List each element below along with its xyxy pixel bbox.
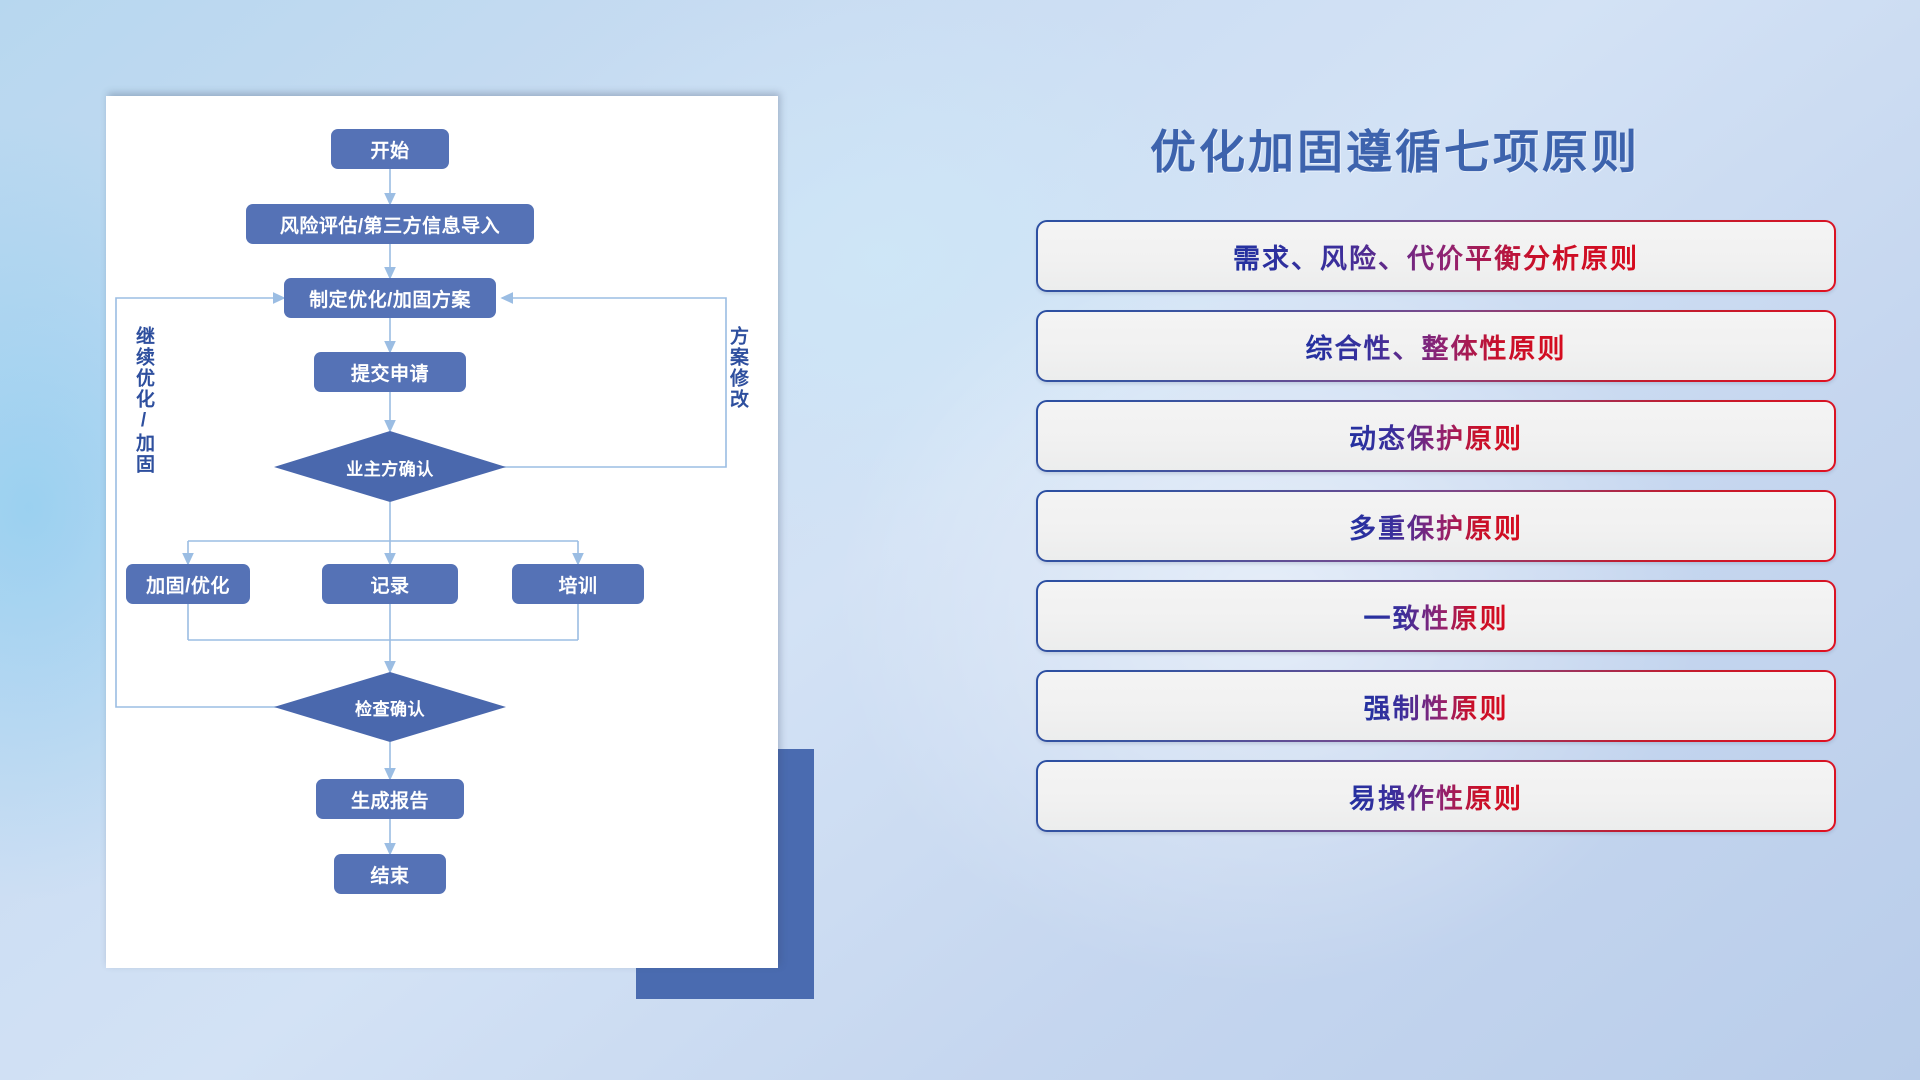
principle-card-inner: 多重保护原则 [1038, 492, 1834, 560]
principle-label: 综合性、整体性原则 [1306, 327, 1567, 366]
principle-label: 强制性原则 [1364, 687, 1509, 726]
principle-card-5[interactable]: 一致性原则 [1036, 580, 1836, 652]
node-start[interactable]: 开始 [331, 129, 449, 169]
node-training[interactable]: 培训 [512, 564, 644, 604]
label-final-check: 检查确认 [274, 692, 506, 722]
node-make-plan[interactable]: 制定优化/加固方案 [284, 278, 496, 318]
principle-card-4[interactable]: 多重保护原则 [1036, 490, 1836, 562]
principle-label: 需求、风险、代价平衡分析原则 [1233, 237, 1639, 276]
principle-card-inner: 强制性原则 [1038, 672, 1834, 740]
edge-label-continue-optimize: 继续优化/加固 [130, 326, 157, 475]
principle-label: 易操作性原则 [1349, 777, 1523, 816]
principle-label: 动态保护原则 [1349, 417, 1523, 456]
edge-label-plan-revision: 方案修改 [724, 326, 751, 410]
flowchart-card: 开始 风险评估/第三方信息导入 制定优化/加固方案 提交申请 业主方确认 加固/… [106, 96, 778, 968]
navy-accent-horizontal [636, 963, 814, 999]
principle-card-inner: 需求、风险、代价平衡分析原则 [1038, 222, 1834, 290]
principles-list: 需求、风险、代价平衡分析原则 综合性、整体性原则 动态保护原则 多重保护原则 一… [1036, 220, 1836, 850]
principle-card-2[interactable]: 综合性、整体性原则 [1036, 310, 1836, 382]
principle-card-7[interactable]: 易操作性原则 [1036, 760, 1836, 832]
principle-card-inner: 综合性、整体性原则 [1038, 312, 1834, 380]
node-generate-report[interactable]: 生成报告 [316, 779, 464, 819]
principle-card-3[interactable]: 动态保护原则 [1036, 400, 1836, 472]
node-risk-assessment[interactable]: 风险评估/第三方信息导入 [246, 204, 534, 244]
principle-card-inner: 动态保护原则 [1038, 402, 1834, 470]
node-reinforce-optimize[interactable]: 加固/优化 [126, 564, 250, 604]
label-owner-confirm: 业主方确认 [274, 452, 506, 482]
principle-card-inner: 一致性原则 [1038, 582, 1834, 650]
principle-card-1[interactable]: 需求、风险、代价平衡分析原则 [1036, 220, 1836, 292]
principle-card-inner: 易操作性原则 [1038, 762, 1834, 830]
principle-label: 一致性原则 [1364, 597, 1509, 636]
principle-label: 多重保护原则 [1349, 507, 1523, 546]
node-submit-application[interactable]: 提交申请 [314, 352, 466, 392]
principles-panel: 优化加固遵循七项原则 需求、风险、代价平衡分析原则 综合性、整体性原则 动态保护… [1020, 100, 1840, 1000]
principle-card-6[interactable]: 强制性原则 [1036, 670, 1836, 742]
panel-title: 优化加固遵循七项原则 [1150, 116, 1640, 182]
node-end[interactable]: 结束 [334, 854, 446, 894]
node-record[interactable]: 记录 [322, 564, 458, 604]
